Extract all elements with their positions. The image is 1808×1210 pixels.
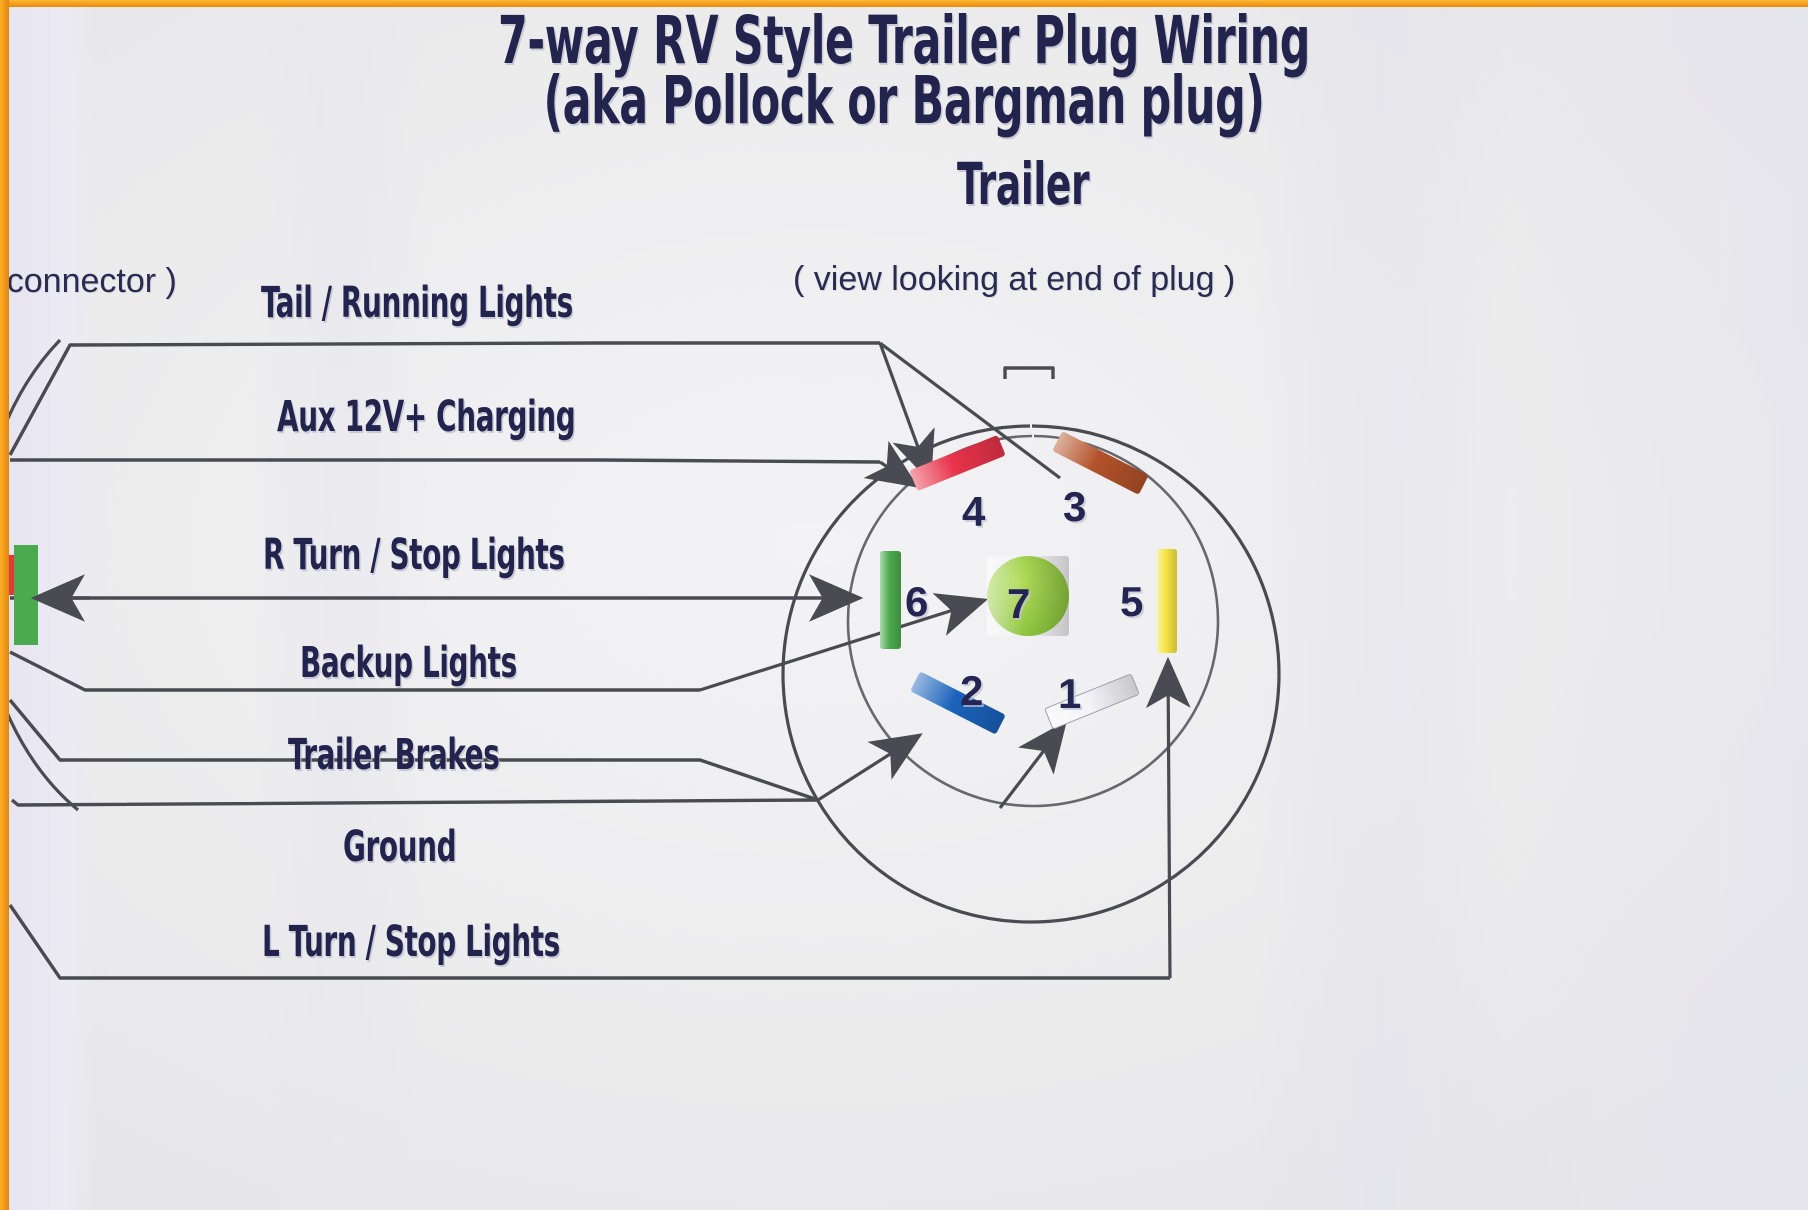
connect-to-pin-1 xyxy=(1000,723,1065,808)
connect-to-pin-5 xyxy=(1168,660,1170,978)
wire-ground xyxy=(12,800,818,805)
pin-number-6: 6 xyxy=(905,578,928,626)
trailer-section-heading: Trailer xyxy=(957,150,1089,218)
connect-to-pin-2 xyxy=(818,735,920,800)
pin-number-2: 2 xyxy=(960,667,983,715)
pin-number-3: 3 xyxy=(1063,483,1086,531)
pin-6-blade-green xyxy=(880,551,901,649)
pin-number-1: 1 xyxy=(1058,670,1081,718)
wire-label-ground: Ground xyxy=(343,822,456,872)
connect-to-pin-7 xyxy=(700,600,985,690)
pin-number-7: 7 xyxy=(1007,580,1030,628)
diagram-title-line2: (aka Pollock or Bargman plug) xyxy=(543,62,1264,139)
pin-number-5: 5 xyxy=(1120,578,1143,626)
left-green-blade xyxy=(14,545,38,645)
plug-outer-circle xyxy=(783,426,1279,922)
scan-frame-left-edge xyxy=(0,0,9,1210)
wiring-diagram-lines xyxy=(0,0,1808,1210)
plug-alignment-notch xyxy=(1005,368,1053,379)
wire-label-trailer-brakes: Trailer Brakes xyxy=(288,730,499,780)
plug-view-note: ( view looking at end of plug ) xyxy=(793,260,1235,299)
wire-aux-charging xyxy=(10,460,880,462)
wire-label-backup-lights: Backup Lights xyxy=(300,638,517,688)
pin-5-blade-yellow xyxy=(1157,549,1177,653)
wire-l-turn-stop xyxy=(10,905,1170,978)
connector-note: ) connector ) xyxy=(0,262,177,301)
wire-label-tail-running-lights: Tail / Running Lights xyxy=(261,278,573,328)
wire-label-r-turn-stop-lights: R Turn / Stop Lights xyxy=(263,530,565,580)
wire-label-l-turn-stop-lights: L Turn / Stop Lights xyxy=(262,917,560,967)
pin-number-4: 4 xyxy=(962,488,985,536)
wire-label-aux-12v-charging: Aux 12V+ Charging xyxy=(277,392,575,442)
left-spacer xyxy=(12,986,28,1116)
scan-frame-top-edge xyxy=(0,0,1808,7)
